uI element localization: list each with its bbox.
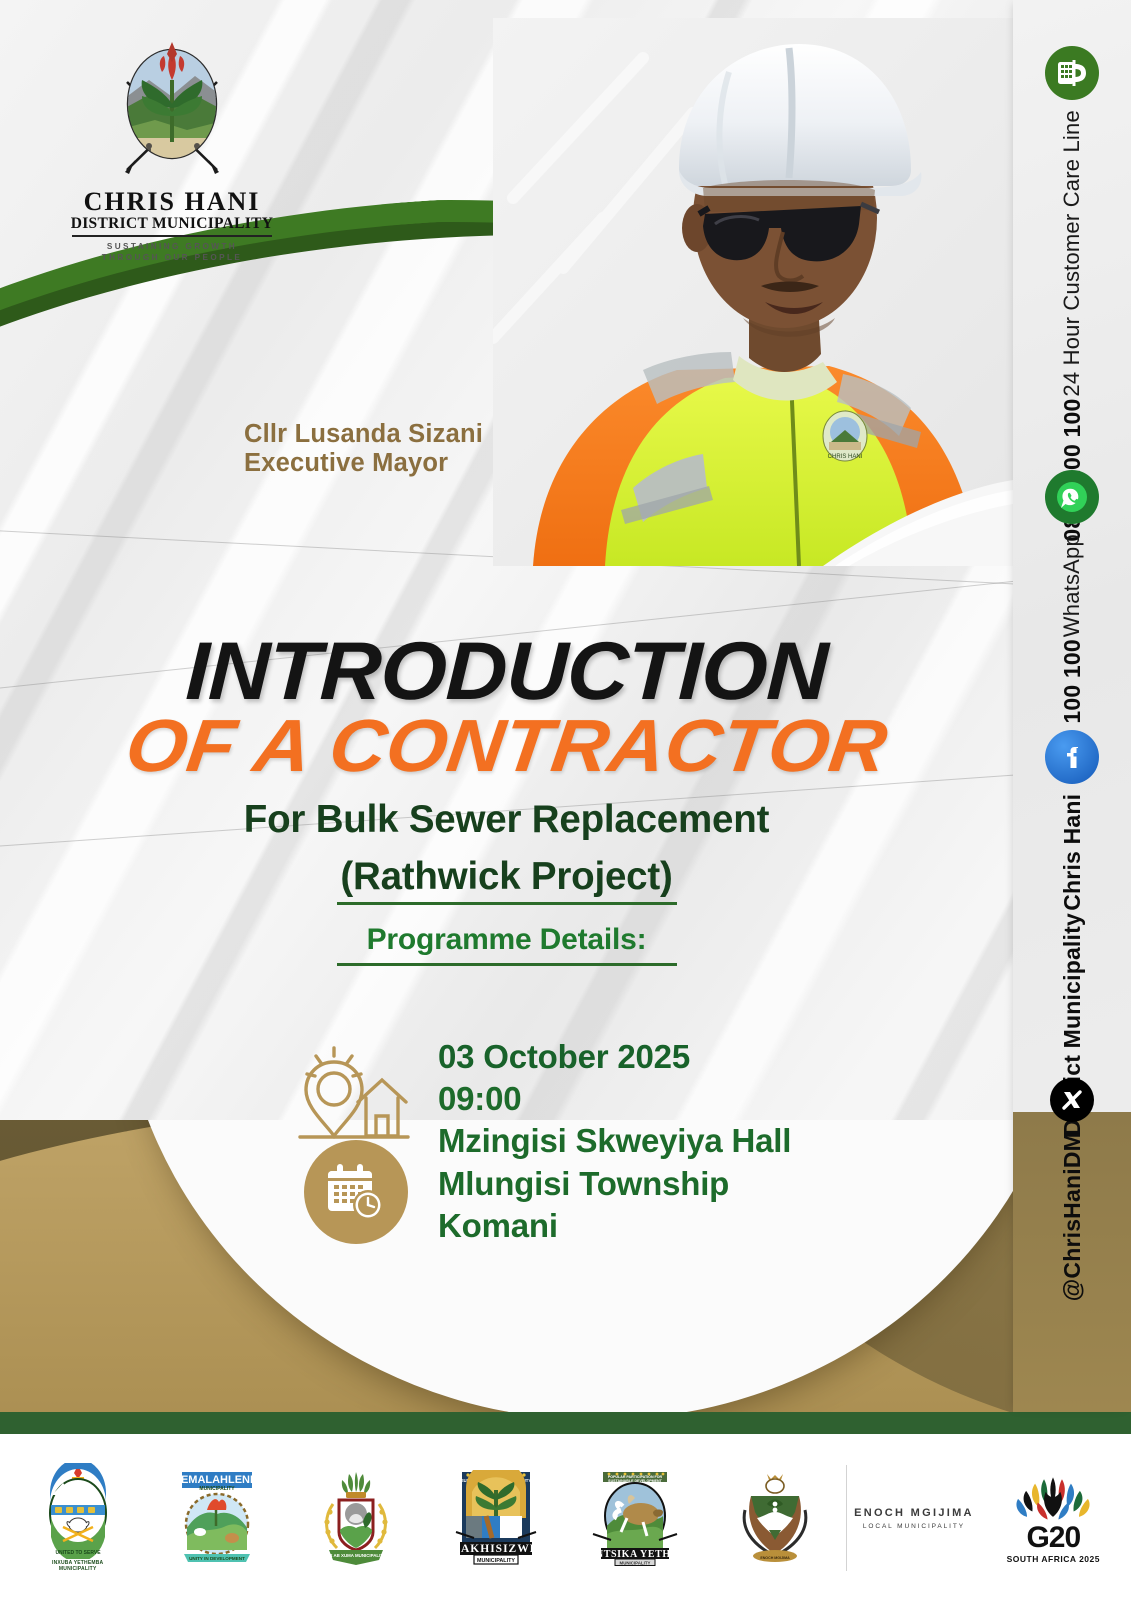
event-details: 03 October 2025 09:00 Mzingisi Skweyiya … (296, 1036, 791, 1256)
chdm-tagline-line1: SUSTAINING GROWTH (58, 241, 286, 252)
x-twitter-icon[interactable] (1050, 1078, 1094, 1122)
footer-logo-sakhisizwe: SUSTAINABILITY THROUGH UNITY SAKHISIZWE (428, 1440, 563, 1596)
emalahleni-wordmark: EMALAHLENI (181, 1474, 253, 1486)
x-text: @ChrisHaniDM (1059, 1132, 1086, 1301)
programme-underline (337, 963, 677, 966)
footer-logo-inxuba-yethemba: UNITED TO SERVE INXUBA YETHEMBA MUNICIPA… (10, 1440, 145, 1596)
telephone-glyph-icon (1054, 55, 1090, 91)
enoch-mgijima-crest-icon: ENOCH MGIJIMA (737, 1470, 813, 1566)
enoch-mgijima-wordmark-icon: ENOCH MGIJIMA LOCAL MUNICIPALITY (854, 1507, 974, 1530)
careline-label: 24 Hour Customer Care Line (1059, 110, 1085, 396)
enoch-wordmark-line1: ENOCH MGIJIMA (854, 1507, 974, 1519)
enoch-wordmark-line2: LOCAL MUNICIPALITY (854, 1523, 974, 1530)
facebook-line1: Chris Hani (1059, 794, 1086, 911)
chdm-logo: CHRIS HANI DISTRICT MUNICIPALITY SUSTAIN… (58, 42, 286, 263)
calendar-clock-badge (304, 1140, 408, 1244)
contact-x[interactable]: @ChrisHaniDM (1013, 1078, 1131, 1301)
emalahleni-crest-icon: EMALAHLENI MUNICIPALITY UNITY IN DEVELOP… (174, 1470, 260, 1566)
event-area: Mlungisi Township (438, 1163, 791, 1205)
green-footer-band (0, 1412, 1131, 1434)
g20-label: G20 (1026, 1524, 1080, 1553)
subtitle-underline (337, 902, 677, 905)
inxuba-yethemba-crest-icon: UNITED TO SERVE (39, 1463, 117, 1559)
sakhisizwe-name: SAKHISIZWE (453, 1543, 538, 1555)
inxuba-motto: UNITED TO SERVE (55, 1550, 101, 1556)
whatsapp-glyph-icon (1053, 478, 1091, 516)
footer-logo-intsika-yethu: POPULAR PARTICIPATION FOR SUSTAINABLE DE… (568, 1440, 703, 1596)
mayor-name-block: Cllr Lusanda Sizani Executive Mayor (244, 420, 483, 478)
chdm-rule (72, 235, 272, 237)
headline-block: INTRODUCTION OF A CONTRACTOR For Bulk Se… (0, 632, 1013, 966)
contact-rail: 24 Hour Customer Care Line 0800 100 100 … (1013, 0, 1131, 1412)
footer-logo-dr-ab-xuma: DR AB XUMA MUNICIPALITY (289, 1440, 424, 1596)
intsika-sub: MUNICIPALITY (620, 1560, 651, 1565)
contact-facebook[interactable]: Chris Hani District Municipality (1013, 730, 1131, 1136)
g20-sublabel: SOUTH AFRICA 2025 (1007, 1554, 1100, 1564)
poster-canvas: CHRIS HANI DISTRICT MUNICIPALITY SUSTAIN… (0, 0, 1131, 1600)
mayor-title: Executive Mayor (244, 449, 483, 478)
contact-careline[interactable]: 24 Hour Customer Care Line 0800 100 100 (1013, 46, 1131, 542)
inxuba-name-line3: MUNICIPALITY (59, 1567, 97, 1573)
dr-ab-xuma-crest-icon: DR AB XUMA MUNICIPALITY (313, 1470, 399, 1566)
chdm-crest-icon (113, 42, 231, 182)
event-venue: Mzingisi Skweyiya Hall (438, 1120, 791, 1162)
x-glyph-icon (1058, 1086, 1086, 1114)
footer-logo-enoch-mgijima-crest: ENOCH MGIJIMA (707, 1440, 842, 1596)
calendar-clock-icon (323, 1159, 389, 1225)
event-time: 09:00 (438, 1078, 791, 1120)
x-handle: @ChrisHaniDM (1059, 1132, 1086, 1301)
headline-line1: INTRODUCTION (0, 632, 1035, 712)
headline-subtitle-line1: For Bulk Sewer Replacement (0, 798, 1013, 841)
telephone-icon[interactable] (1045, 46, 1099, 100)
footer-logo-g20: G20 SOUTH AFRICA 2025 (986, 1440, 1121, 1596)
footer-divider (846, 1465, 847, 1571)
intsika-yethu-crest-icon: POPULAR PARTICIPATION FOR SUSTAINABLE DE… (591, 1470, 679, 1566)
event-details-icons (296, 1036, 412, 1256)
sakhisizwe-sub: MUNICIPALITY (477, 1558, 515, 1564)
whatsapp-label: WhatsApp (1059, 534, 1085, 637)
footer-logo-strip: UNITED TO SERVE INXUBA YETHEMBA MUNICIPA… (0, 1434, 1131, 1600)
facebook-icon[interactable] (1045, 730, 1099, 784)
event-town: Komani (438, 1205, 791, 1247)
event-details-text: 03 October 2025 09:00 Mzingisi Skweyiya … (438, 1036, 791, 1247)
sakhisizwe-crest-icon: SUSTAINABILITY THROUGH UNITY SAKHISIZWE (452, 1470, 540, 1566)
location-pin-house-icon (296, 1040, 412, 1156)
chdm-tagline-line2: THROUGH OUR PEOPLE (58, 252, 286, 263)
emalahleni-motto: UNITY IN DEVELOPMENT (189, 1556, 245, 1561)
mayor-photo-illustration: CHRIS HANI (493, 18, 1013, 566)
programme-details-label: Programme Details: (0, 923, 1013, 957)
emalahleni-sub: MUNICIPALITY (199, 1486, 235, 1492)
headline-line2: OF A CONTRACTOR (0, 708, 1048, 783)
event-date: 03 October 2025 (438, 1036, 791, 1078)
footer-logo-enoch-mgijima-wordmark: ENOCH MGIJIMA LOCAL MUNICIPALITY (846, 1440, 981, 1596)
mayor-name: Cllr Lusanda Sizani (244, 420, 483, 449)
headline-subtitle-line2: (Rathwick Project) (0, 855, 1013, 898)
svg-text:CHRIS HANI: CHRIS HANI (828, 454, 863, 460)
intsika-name: INTSIKA YETHU (592, 1549, 679, 1560)
chdm-name-line2: DISTRICT MUNICIPALITY (58, 215, 286, 232)
facebook-glyph-icon (1055, 740, 1089, 774)
enoch-crest-motto: ENOCH MGIJIMA (760, 1556, 790, 1560)
mayor-photo: CHRIS HANI (493, 18, 1013, 566)
chdm-name-line1: CHRIS HANI (58, 189, 286, 215)
g20-protea-icon (1010, 1472, 1096, 1524)
dr-ab-xuma-name: DR AB XUMA MUNICIPALITY (327, 1553, 387, 1558)
whatsapp-icon[interactable] (1045, 470, 1099, 524)
footer-logo-emalahleni: EMALAHLENI MUNICIPALITY UNITY IN DEVELOP… (149, 1440, 284, 1596)
